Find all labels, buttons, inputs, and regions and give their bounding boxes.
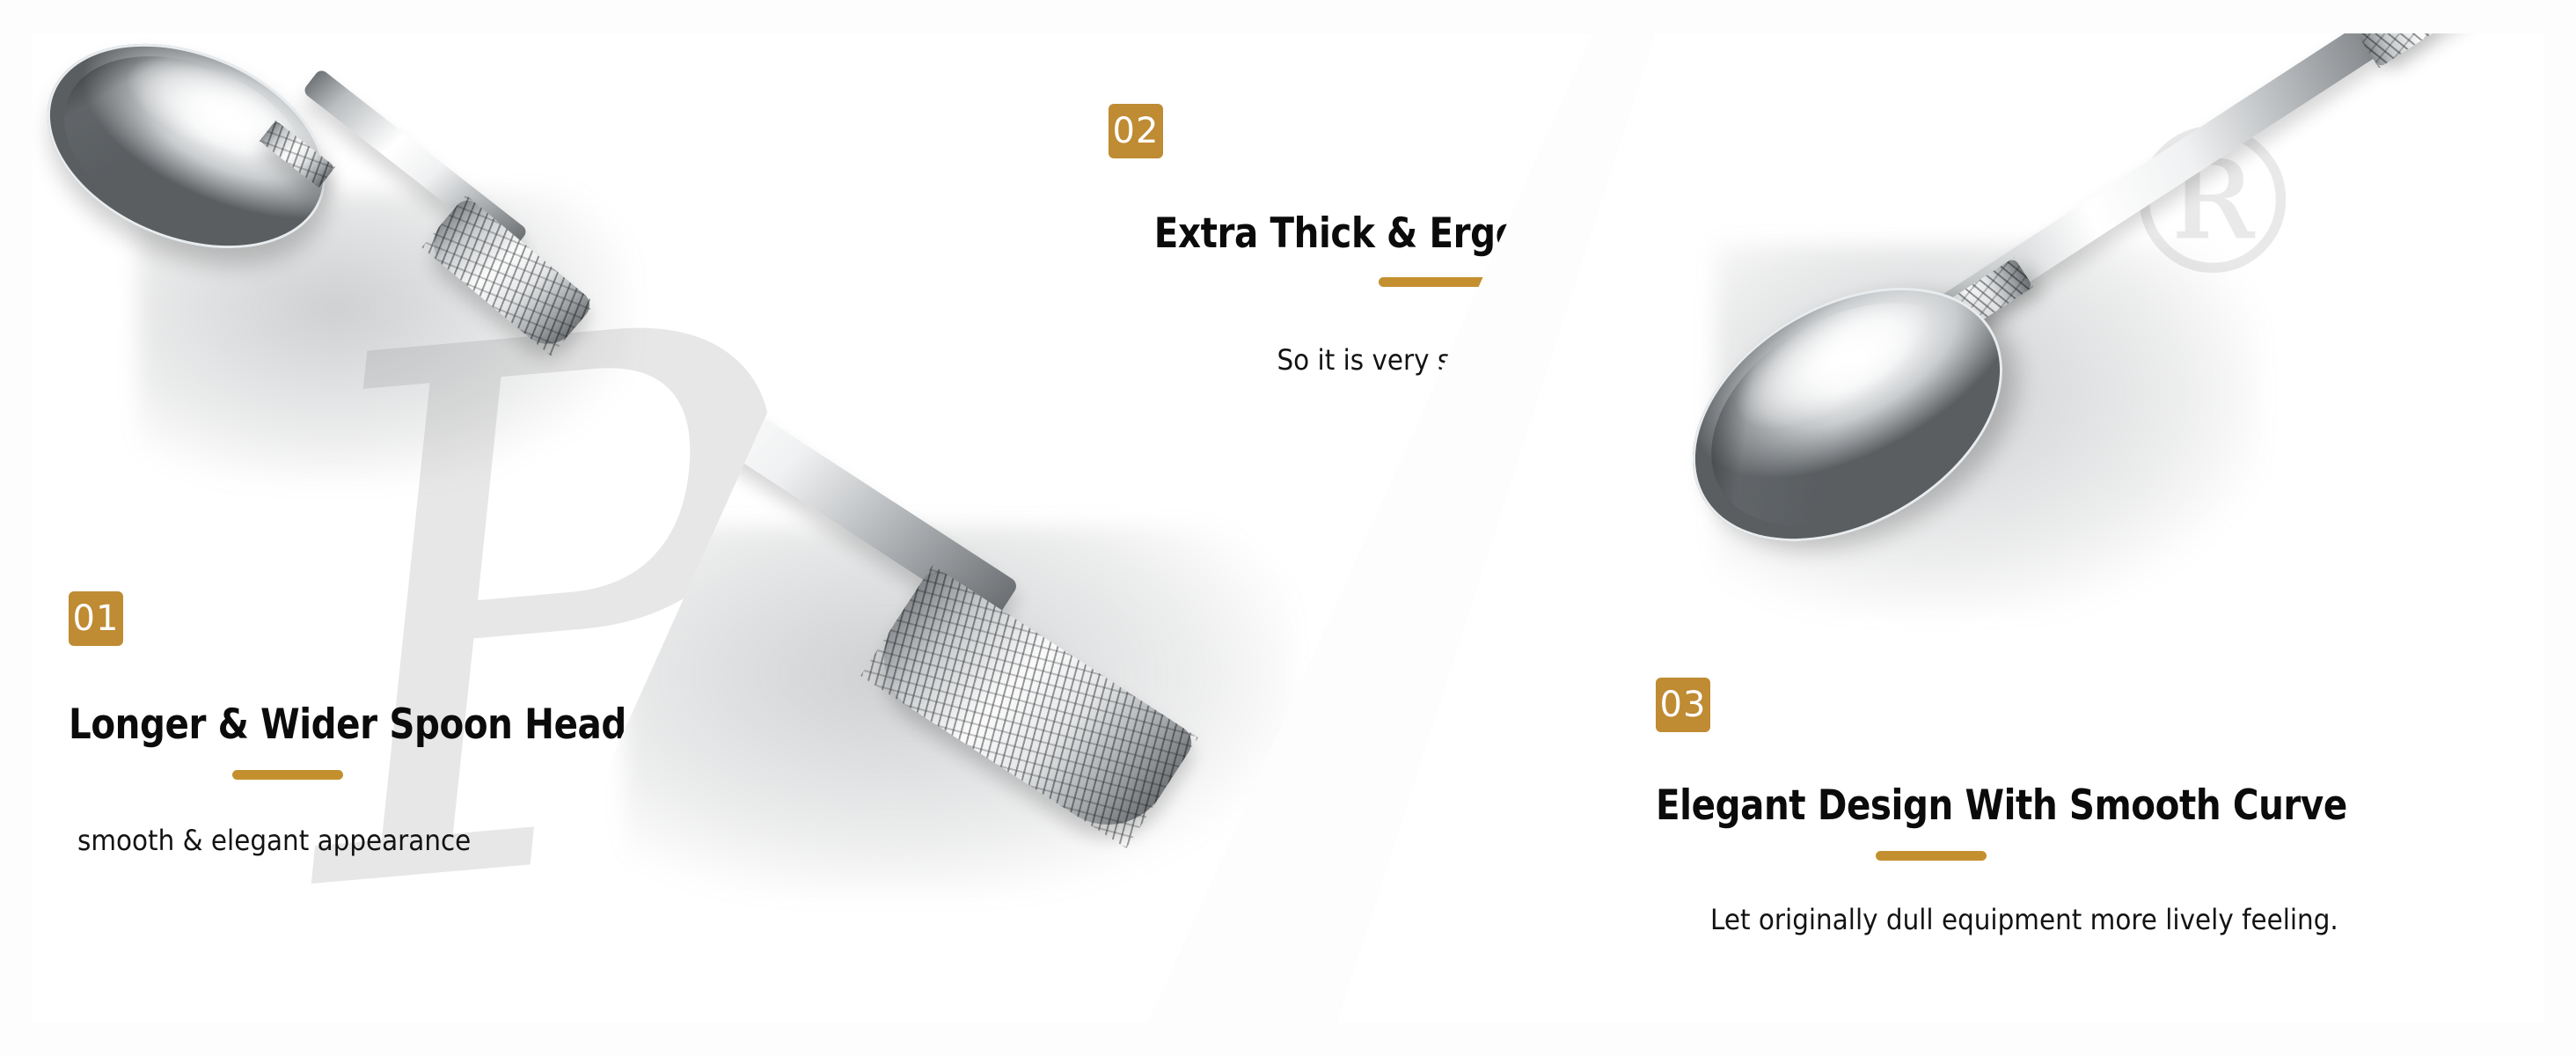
feature-badge-02: 02: [1109, 104, 1163, 158]
feature-title-02: Extra Thick & Ergonomic Handle: [1154, 209, 1592, 258]
feature-subtitle-02-line1: So it is very safe, non-toxic, lead free: [1160, 340, 1592, 380]
product-feature-banner: Pansy 01 Longer & Wider Spoon Head smoot…: [0, 0, 2576, 1056]
feature-title-01: Longer & Wider Spoon Head: [69, 700, 626, 749]
feature-subtitle-03: Let originally dull equipment more livel…: [1710, 899, 2400, 940]
feature-rule-03: [1876, 851, 1987, 861]
feature-title-03: Elegant Design With Smooth Curve: [1656, 781, 2347, 830]
feature-text-02: 02 Extra Thick & Ergonomic Handle So it …: [1109, 104, 1592, 425]
feature-text-03: 03 Elegant Design With Smooth Curve Let …: [1656, 678, 2460, 940]
feature-rule-02: [1379, 277, 1489, 287]
feature-badge-03: 03: [1656, 678, 1710, 732]
feature-rule-01: [232, 770, 343, 780]
feature-subtitle-02-line2: Just use it at ease.: [1160, 384, 1592, 424]
feature-badge-01: 01: [69, 591, 123, 646]
